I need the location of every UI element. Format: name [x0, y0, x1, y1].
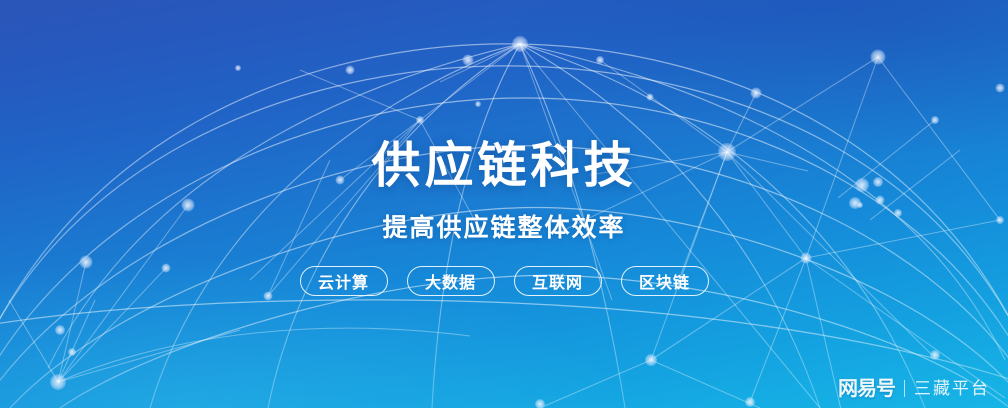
tag-pill-big-data[interactable]: 大数据	[407, 266, 495, 296]
netease-hao-logo: 网易号	[838, 378, 895, 398]
tag-list: 云计算 大数据 互联网 区块链	[300, 266, 709, 296]
tag-pill-blockchain[interactable]: 区块链	[621, 266, 709, 296]
watermark-divider	[904, 380, 905, 397]
watermark-platform-name: 三藏平台	[914, 380, 990, 397]
tag-pill-cloud-computing[interactable]: 云计算	[300, 266, 388, 296]
banner-content: 供应链科技 提高供应链整体效率 云计算 大数据 互联网 区块链	[0, 0, 1008, 408]
tag-pill-internet[interactable]: 互联网	[514, 266, 602, 296]
page-subtitle: 提高供应链整体效率	[382, 216, 625, 241]
page-title: 供应链科技	[371, 142, 636, 191]
promo-banner: 供应链科技 提高供应链整体效率 云计算 大数据 互联网 区块链 网易号 三藏平台	[0, 0, 1008, 408]
watermark: 网易号 三藏平台	[838, 378, 990, 398]
